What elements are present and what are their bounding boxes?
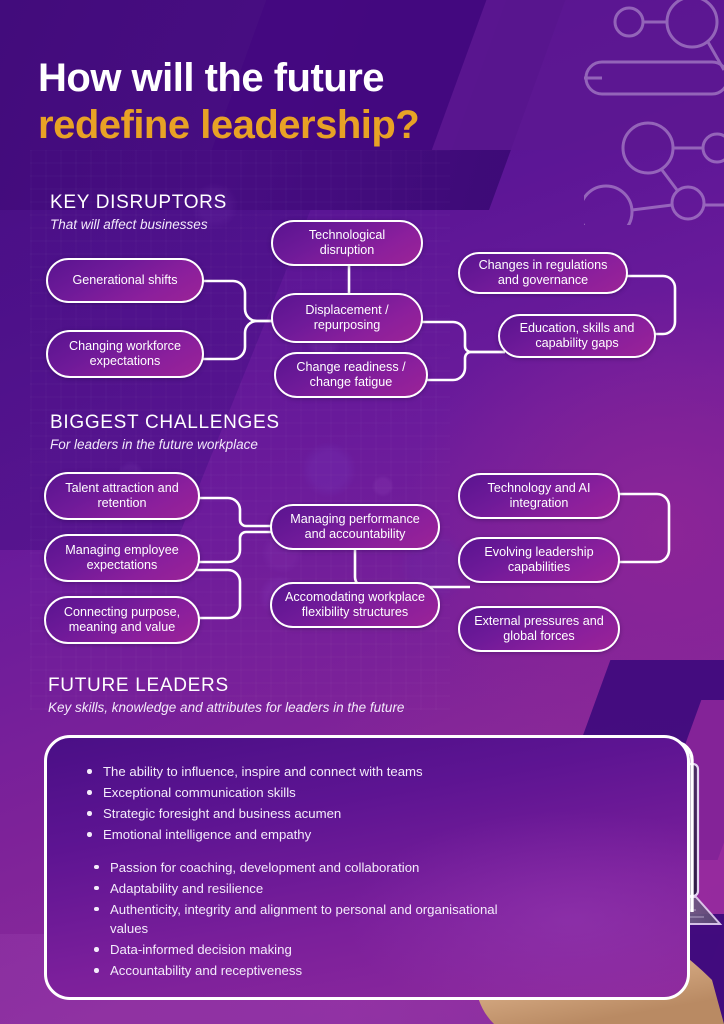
node-external-pressures[interactable]: External pressures and global forces: [458, 606, 620, 652]
node-education-skills[interactable]: Education, skills and capability gaps: [498, 314, 656, 358]
list-item: Passion for coaching, development and co…: [103, 858, 503, 877]
node-connecting-purpose[interactable]: Connecting purpose, meaning and value: [44, 596, 200, 644]
list-item: Authenticity, integrity and alignment to…: [103, 900, 503, 938]
infographic-poster: How will the future redefine leadership?…: [0, 0, 724, 1024]
future-leaders-box: The ability to influence, inspire and co…: [44, 735, 690, 1000]
node-displacement-repurposing[interactable]: Displacement / repurposing: [271, 293, 423, 343]
list-item: Accountability and receptiveness: [103, 961, 503, 980]
list-item: Adaptability and resilience: [103, 879, 503, 898]
node-managing-employee[interactable]: Managing employee expectations: [44, 534, 200, 582]
section-heading-key-disruptors: KEY DISRUPTORS That will affect business…: [50, 192, 227, 233]
section-title: BIGGEST CHALLENGES: [50, 412, 280, 434]
section-heading-future-leaders: FUTURE LEADERS Key skills, knowledge and…: [48, 675, 404, 716]
section-subtitle: For leaders in the future workplace: [50, 436, 280, 454]
node-changes-regulations[interactable]: Changes in regulations and governance: [458, 252, 628, 294]
node-evolving-leadership[interactable]: Evolving leadership capabilities: [458, 537, 620, 583]
section-heading-biggest-challenges: BIGGEST CHALLENGES For leaders in the fu…: [50, 412, 280, 453]
section-subtitle: That will affect businesses: [50, 216, 227, 234]
node-change-readiness[interactable]: Change readiness / change fatigue: [274, 352, 428, 398]
future-leaders-list: The ability to influence, inspire and co…: [47, 738, 503, 980]
node-generational-shifts[interactable]: Generational shifts: [46, 258, 204, 303]
title-line-1: How will the future: [38, 55, 658, 102]
node-changing-workforce[interactable]: Changing workforce expectations: [46, 330, 204, 378]
title-line-2: redefine leadership?: [38, 102, 658, 149]
page-title: How will the future redefine leadership?: [38, 55, 658, 149]
section-subtitle: Key skills, knowledge and attributes for…: [48, 699, 404, 717]
list-item: Strategic foresight and business acumen: [103, 804, 503, 823]
list-item: Emotional intelligence and empathy: [103, 825, 503, 844]
node-accomodating-workplace[interactable]: Accomodating workplace flexibility struc…: [270, 582, 440, 628]
node-technological-disruption[interactable]: Technological disruption: [271, 220, 423, 266]
node-managing-performance[interactable]: Managing performance and accountability: [270, 504, 440, 550]
list-item: Data-informed decision making: [103, 940, 503, 959]
list-item: The ability to influence, inspire and co…: [103, 762, 503, 781]
node-technology-ai[interactable]: Technology and AI integration: [458, 473, 620, 519]
section-title: FUTURE LEADERS: [48, 675, 404, 697]
list-item: Exceptional communication skills: [103, 783, 503, 802]
section-title: KEY DISRUPTORS: [50, 192, 227, 214]
node-talent-attraction[interactable]: Talent attraction and retention: [44, 472, 200, 520]
